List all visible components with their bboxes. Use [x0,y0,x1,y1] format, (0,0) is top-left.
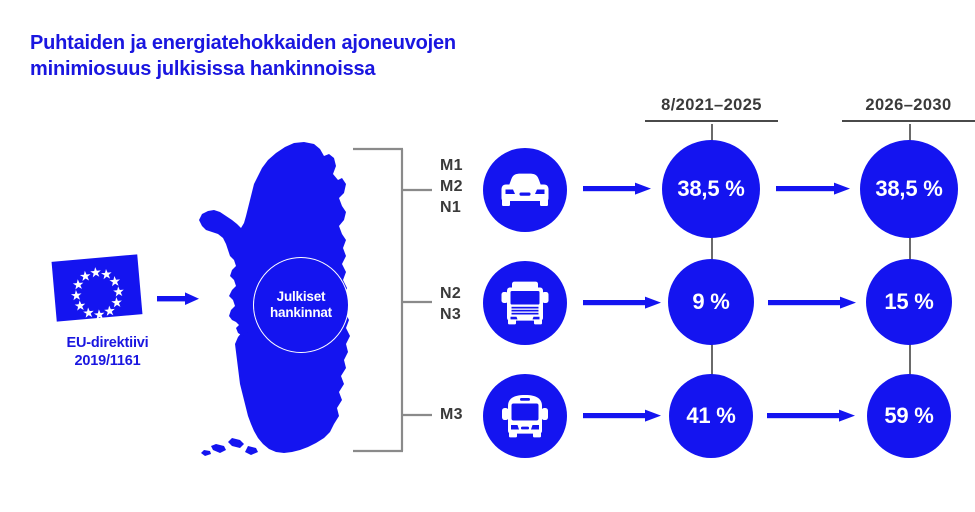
value-text: 41 % [686,403,735,429]
eu-directive-caption: EU-direktiivi 2019/1161 [40,334,175,370]
vehicle-icon-circle-car [483,148,567,232]
value-circle-row3-period2: 59 % [867,374,951,458]
value-text: 59 % [884,403,933,429]
category-label: M1 [440,155,463,176]
page-title: Puhtaiden ja energiatehokkaiden ajoneuvo… [30,30,590,83]
category-labels-row-2: N2 N3 [440,283,461,325]
value-text: 38,5 % [677,176,744,202]
value-text: 38,5 % [875,176,942,202]
finland-map-block: Julkiset hankinnat [196,140,361,460]
arrow-period1-to-period2-row-1 [776,179,850,199]
eu-stars-icon [52,254,143,321]
column-header-label: 2026–2030 [842,96,975,115]
category-label: M3 [440,404,463,425]
category-bracket [352,140,436,460]
column-header-period-2: 2026–2030 [842,96,975,122]
value-circle-row1-period2: 38,5 % [860,140,958,238]
arrow-period1-to-period2-row-2 [768,293,856,313]
value-text: 9 % [692,289,729,315]
eu-directive-block: EU-direktiivi 2019/1161 [40,258,175,370]
value-circle-row3-period1: 41 % [669,374,753,458]
bus-icon [500,394,550,438]
public-procurement-bubble: Julkiset hankinnat [253,257,349,353]
connector-col2-row1-row2 [909,236,911,260]
value-circle-row2-period2: 15 % [866,259,952,345]
connector-col1-row1-row2 [711,236,713,260]
category-label: N3 [440,304,461,325]
category-label: N2 [440,283,461,304]
arrow-period1-to-period2-row-3 [767,406,855,426]
eu-directive-caption-line-1: EU-direktiivi [40,334,175,352]
column-header-rule [842,120,975,122]
eu-directive-caption-line-2: 2019/1161 [40,352,175,370]
infographic-canvas: Puhtaiden ja energiatehokkaiden ajoneuvo… [0,0,975,512]
car-icon [500,172,550,208]
column-header-period-1: 8/2021–2025 [645,96,778,122]
arrow-vehicle-to-value-row-2 [583,293,661,313]
column-header-label: 8/2021–2025 [645,96,778,115]
column-header-rule [645,120,778,122]
bubble-line-2: hankinnat [270,305,332,321]
vehicle-icon-circle-truck [483,261,567,345]
category-label: N1 [440,197,463,218]
truck-icon [500,281,550,325]
value-text: 15 % [884,289,933,315]
connector-col2-row2-row3 [909,344,911,375]
arrow-vehicle-to-value-row-1 [583,179,651,199]
category-label: M2 [440,176,463,197]
category-labels-row-3: M3 [440,404,463,425]
value-circle-row2-period1: 9 % [668,259,754,345]
page-title-line-2: minimiosuus julkisissa hankinnoissa [30,56,590,82]
page-title-line-1: Puhtaiden ja energiatehokkaiden ajoneuvo… [30,30,590,56]
category-labels-row-1: M1 M2 N1 [440,155,463,218]
arrow-vehicle-to-value-row-3 [583,406,661,426]
vehicle-icon-circle-bus [483,374,567,458]
bubble-line-1: Julkiset [277,289,326,305]
arrow-eu-to-map-icon [157,289,199,309]
eu-flag-icon [52,254,143,321]
value-circle-row1-period1: 38,5 % [662,140,760,238]
connector-col1-row2-row3 [711,344,713,375]
